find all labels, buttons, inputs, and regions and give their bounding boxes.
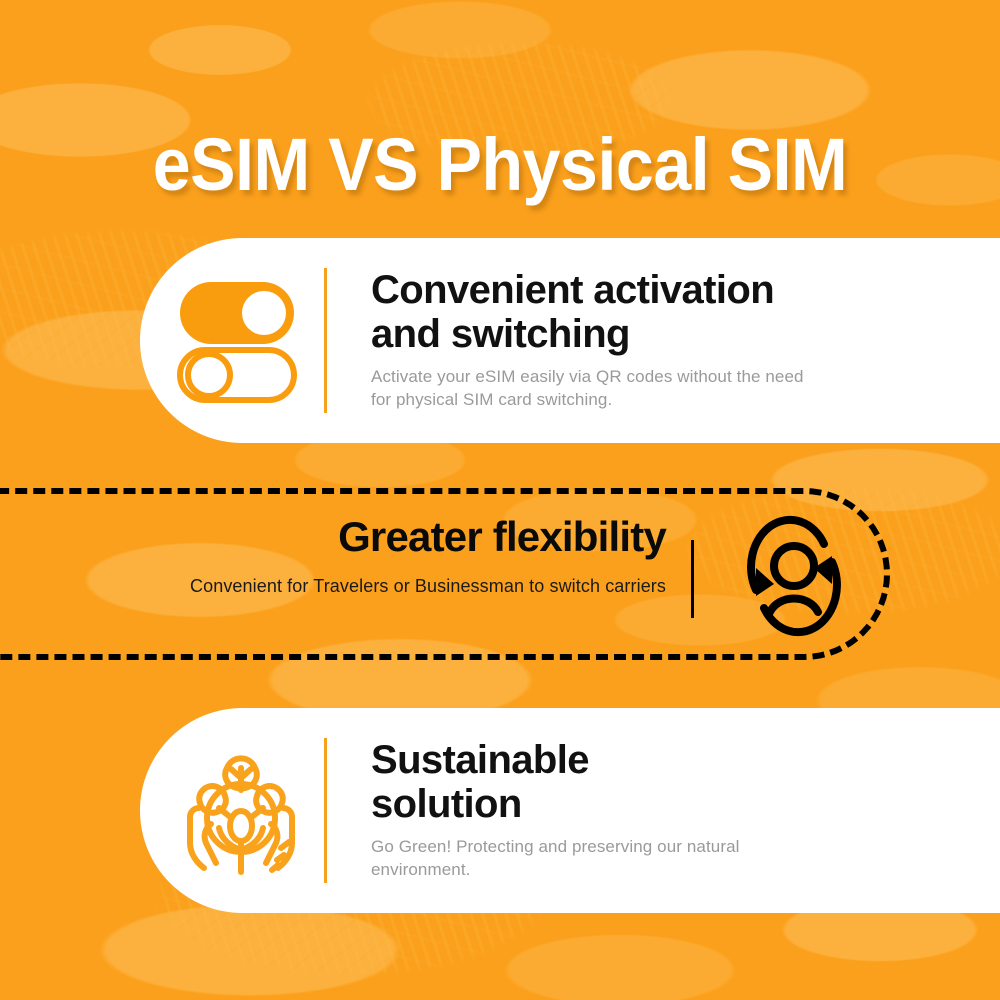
card-heading: Convenient activation and switching	[371, 269, 1000, 355]
sustainable-hands-globe-icon	[158, 746, 324, 876]
card-heading: Sustainable solution	[371, 739, 1000, 825]
esim-comparison-poster: eSIM VS Physical SIM Convenient activati…	[0, 0, 1000, 1000]
page-title: eSIM VS Physical SIM	[40, 128, 960, 202]
band-body-text: Convenient for Travelers or Businessman …	[6, 576, 666, 598]
band-text-block: Greater flexibility Convenient for Trave…	[6, 516, 666, 598]
card-text-block: Sustainable solution Go Green! Protectin…	[327, 739, 1000, 881]
card-body-text: Go Green! Protecting and preserving our …	[371, 836, 1000, 882]
toggle-switches-icon	[158, 278, 324, 404]
card-text-block: Convenient activation and switching Acti…	[327, 269, 1000, 411]
band-heading: Greater flexibility	[6, 516, 666, 558]
feature-band-greater-flexibility: Greater flexibility Convenient for Trave…	[0, 488, 890, 660]
feature-card-sustainable-solution: Sustainable solution Go Green! Protectin…	[140, 708, 1000, 913]
band-divider	[691, 540, 694, 618]
band-content: Greater flexibility Convenient for Trave…	[0, 494, 896, 654]
feature-card-convenient-activation: Convenient activation and switching Acti…	[140, 238, 1000, 443]
user-switch-arrows-icon	[728, 512, 860, 640]
card-body-text: Activate your eSIM easily via QR codes w…	[371, 366, 1000, 412]
